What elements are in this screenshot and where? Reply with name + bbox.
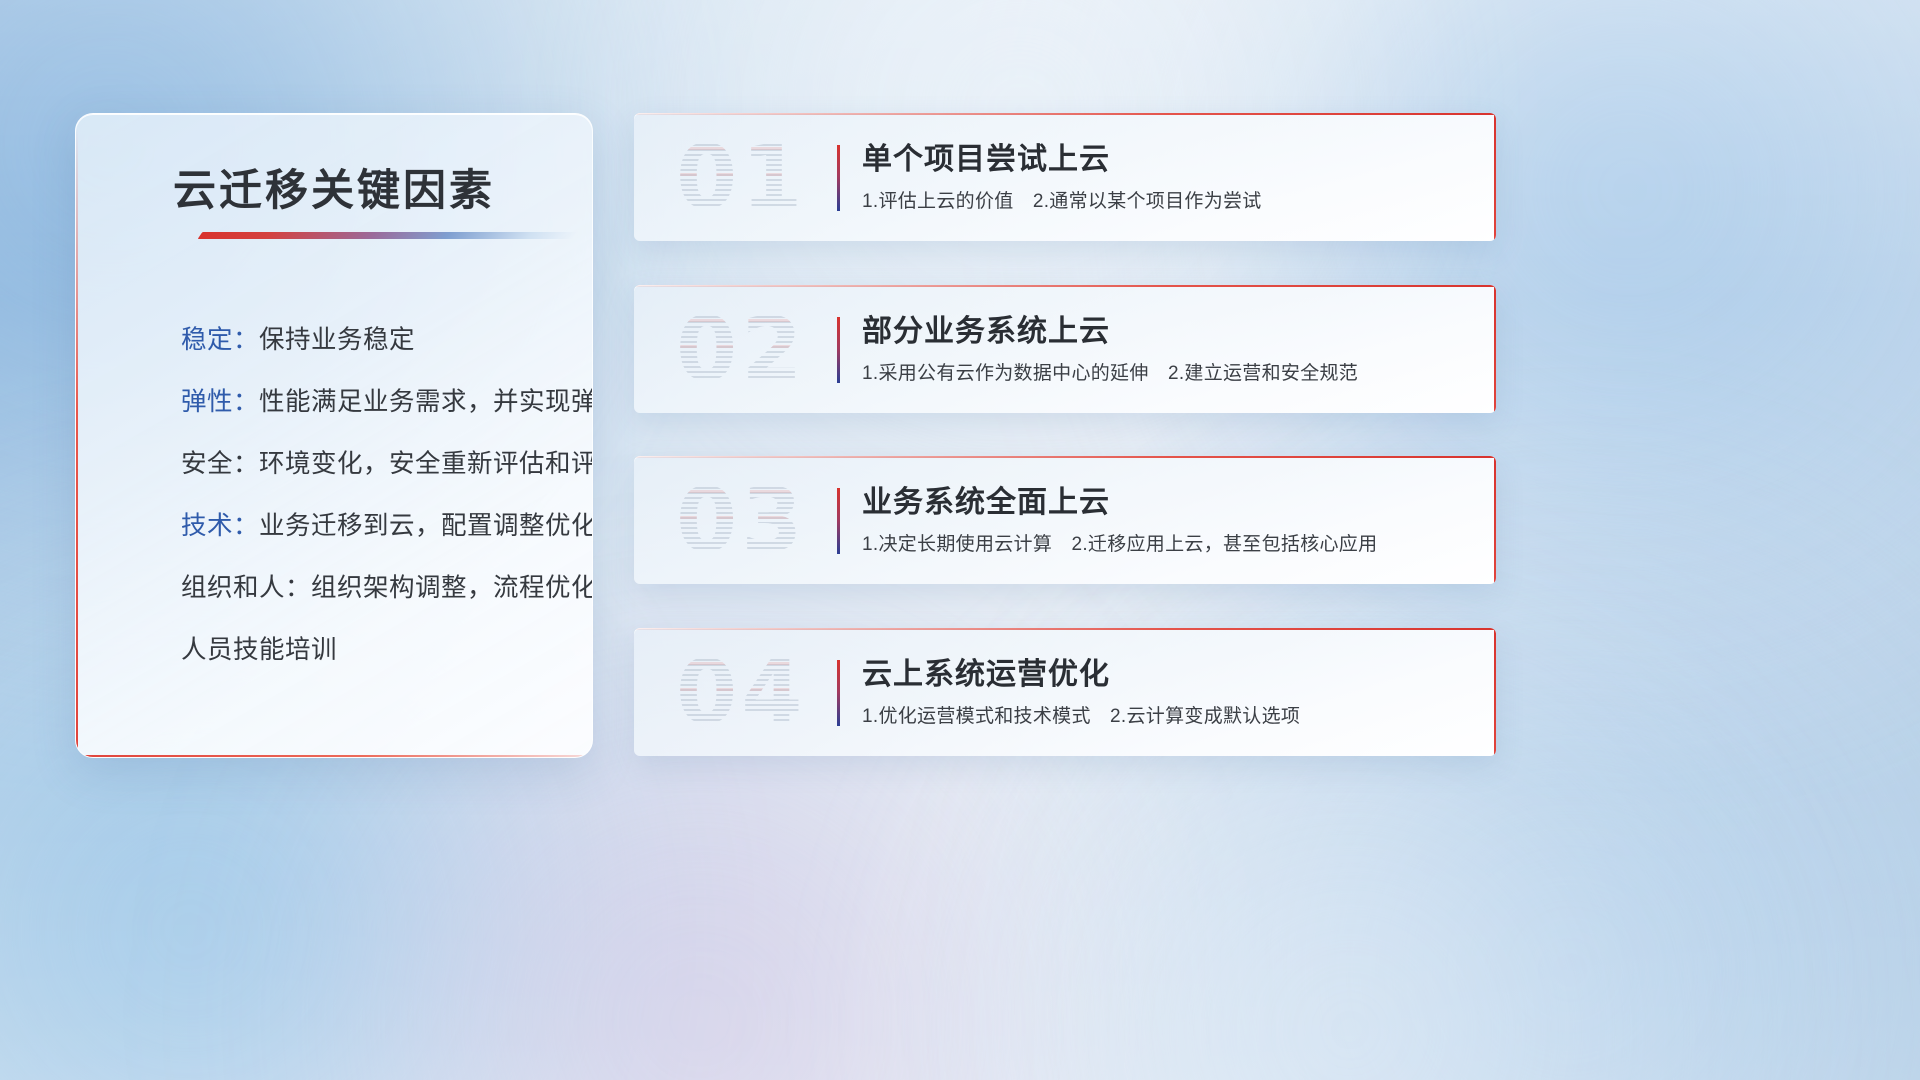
list-item: 技术：业务迁移到云，配置调整优化 xyxy=(181,495,552,557)
stage-card-body: 云上系统运营优化 1.优化运营模式和技术模式 2.云计算变成默认选项 xyxy=(862,656,1468,730)
stage-number-ghost: 02 xyxy=(676,301,846,397)
list-item-key: 弹性： xyxy=(181,388,259,416)
stage-card-body: 业务系统全面上云 1.决定长期使用云计算 2.迁移应用上云，甚至包括核心应用 xyxy=(862,484,1468,558)
stage-number-ghost-tint: 03 xyxy=(676,472,846,568)
stage-accent-bar xyxy=(837,488,840,554)
stage-title: 部分业务系统上云 xyxy=(862,313,1468,351)
stage-card-03[interactable]: 03 03 业务系统全面上云 1.决定长期使用云计算 2.迁移应用上云，甚至包括… xyxy=(634,456,1496,584)
list-item-key: 安全： xyxy=(181,450,259,478)
stage-card-body: 单个项目尝试上云 1.评估上云的价值 2.通常以某个项目作为尝试 xyxy=(862,141,1468,215)
stage-title: 业务系统全面上云 xyxy=(862,484,1468,522)
list-item: 组织和人：组织架构调整，流程优化， xyxy=(181,557,552,619)
key-factors-panel: 云迁移关键因素 稳定：保持业务稳定 弹性：性能满足业务需求，并实现弹性 安全：环… xyxy=(75,113,593,758)
stage-card-01[interactable]: 01 01 单个项目尝试上云 1.评估上云的价值 2.通常以某个项目作为尝试 xyxy=(634,113,1496,241)
stage-accent-bar xyxy=(837,145,840,211)
list-item: 安全：环境变化，安全重新评估和评审 xyxy=(181,433,552,495)
list-item-key: 技术： xyxy=(181,512,259,540)
page-title: 云迁移关键因素 xyxy=(76,156,592,218)
stage-accent-bar xyxy=(837,317,840,383)
list-item-text: 保持业务稳定 xyxy=(259,326,415,354)
list-item-key: 组织和人： xyxy=(181,574,311,602)
slide-stage: 云迁移关键因素 稳定：保持业务稳定 弹性：性能满足业务需求，并实现弹性 安全：环… xyxy=(0,0,1920,1080)
stage-number-ghost-tint: 01 xyxy=(676,129,846,225)
stage-subtitle: 1.优化运营模式和技术模式 2.云计算变成默认选项 xyxy=(862,704,1468,730)
stage-number-ghost-tint: 04 xyxy=(676,644,846,740)
stage-subtitle: 1.评估上云的价值 2.通常以某个项目作为尝试 xyxy=(862,189,1468,215)
stage-card-body: 部分业务系统上云 1.采用公有云作为数据中心的延伸 2.建立运营和安全规范 xyxy=(862,313,1468,387)
list-item-text: 环境变化，安全重新评估和评审 xyxy=(259,450,593,478)
list-item-text: 人员技能培训 xyxy=(181,636,337,664)
stage-accent-bar xyxy=(837,660,840,726)
key-factors-list: 稳定：保持业务稳定 弹性：性能满足业务需求，并实现弹性 安全：环境变化，安全重新… xyxy=(181,309,552,681)
list-item-key: 稳定： xyxy=(181,326,259,354)
list-item-text: 业务迁移到云，配置调整优化 xyxy=(259,512,593,540)
stage-number-ghost: 04 xyxy=(676,644,846,740)
stage-subtitle: 1.决定长期使用云计算 2.迁移应用上云，甚至包括核心应用 xyxy=(862,532,1468,558)
title-underline-accent xyxy=(198,232,578,239)
list-item: 稳定：保持业务稳定 xyxy=(181,309,552,371)
list-item-text: 组织架构调整，流程优化， xyxy=(311,574,593,602)
stage-card-02[interactable]: 02 02 部分业务系统上云 1.采用公有云作为数据中心的延伸 2.建立运营和安… xyxy=(634,285,1496,413)
stage-title: 云上系统运营优化 xyxy=(862,656,1468,694)
stage-title: 单个项目尝试上云 xyxy=(862,141,1468,179)
stage-subtitle: 1.采用公有云作为数据中心的延伸 2.建立运营和安全规范 xyxy=(862,361,1468,387)
stage-number-ghost-tint: 02 xyxy=(676,301,846,397)
list-item: 弹性：性能满足业务需求，并实现弹性 xyxy=(181,371,552,433)
stage-number-ghost: 01 xyxy=(676,129,846,225)
stage-card-04[interactable]: 04 04 云上系统运营优化 1.优化运营模式和技术模式 2.云计算变成默认选项 xyxy=(634,628,1496,756)
stage-number-ghost: 03 xyxy=(676,472,846,568)
list-item-text: 性能满足业务需求，并实现弹性 xyxy=(259,388,593,416)
list-item: 人员技能培训 xyxy=(181,619,552,681)
